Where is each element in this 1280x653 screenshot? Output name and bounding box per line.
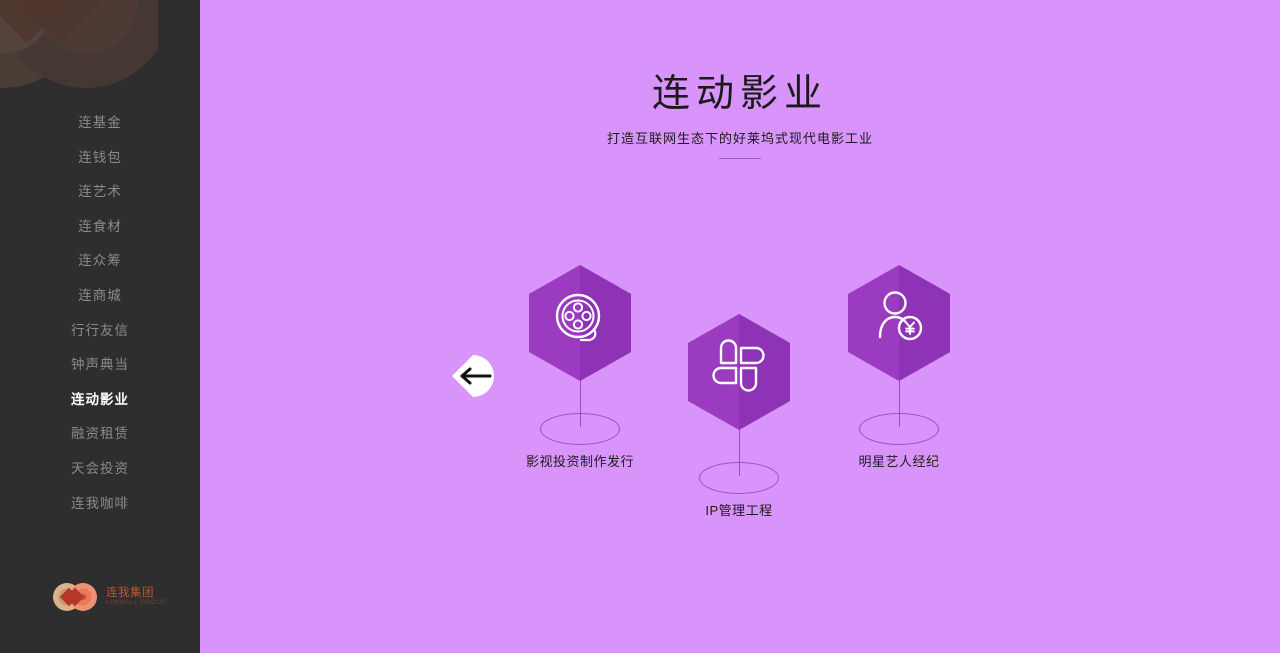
title-divider <box>719 158 761 159</box>
prev-arrow-button[interactable] <box>448 351 498 401</box>
node-label: 影视投资制作发行 <box>460 451 700 470</box>
node-base-ring <box>859 413 939 445</box>
sidebar-item-label: 连我咖啡 <box>71 496 129 511</box>
sidebar-item-label: 连商城 <box>78 288 122 303</box>
hexagon-badge[interactable]: IP管理工程 <box>688 314 790 430</box>
sidebar-item-6[interactable]: 行行友信 <box>0 314 200 349</box>
hexagon-badge[interactable]: 明星艺人经纪 <box>848 265 950 381</box>
sidebar-item-1[interactable]: 连钱包 <box>0 141 200 176</box>
sidebar-item-label: 行行友信 <box>71 323 129 338</box>
sidebar-nav[interactable]: 连基金 连钱包 连艺术 连食材 连众筹 连商城 行行友信 钟声典当 连动影业 融… <box>0 106 200 521</box>
sidebar-item-label: 天会投资 <box>71 461 129 476</box>
sidebar-item-label: 连基金 <box>78 115 122 130</box>
brand-text: 连我集团 LIWWALL GROUP <box>106 587 167 608</box>
hexagon-shape <box>529 265 631 381</box>
sidebar-item-label: 连食材 <box>78 219 122 234</box>
sidebar-item-9[interactable]: 融资租赁 <box>0 417 200 452</box>
sidebar-item-11[interactable]: 连我咖啡 <box>0 487 200 522</box>
liwwall-logo-icon <box>50 577 100 617</box>
sidebar-item-label: 钟声典当 <box>71 357 129 372</box>
sidebar-item-label: 连钱包 <box>78 150 122 165</box>
node-artist-agency[interactable]: 明星艺人经纪 <box>848 265 950 381</box>
sidebar-item-label: 连众筹 <box>78 253 122 268</box>
node-label: IP管理工程 <box>619 500 859 519</box>
brand-name-cn: 连我集团 <box>106 587 167 599</box>
page-subtitle: 打造互联网生态下的好莱坞式现代电影工业 <box>200 128 1280 147</box>
page-title: 连动影业 <box>200 62 1280 117</box>
sidebar-item-label: 连动影业 <box>71 392 129 407</box>
sidebar-item-2[interactable]: 连艺术 <box>0 175 200 210</box>
node-film-investment[interactable]: 影视投资制作发行 <box>529 265 631 381</box>
sidebar-item-10[interactable]: 天会投资 <box>0 452 200 487</box>
sidebar: 连基金 连钱包 连艺术 连食材 连众筹 连商城 行行友信 钟声典当 连动影业 融… <box>0 0 200 653</box>
node-base-ring <box>540 413 620 445</box>
sidebar-item-8-active[interactable]: 连动影业 <box>0 383 200 418</box>
hexagon-badge[interactable]: 影视投资制作发行 <box>529 265 631 381</box>
hexagon-shape <box>848 265 950 381</box>
sidebar-item-label: 连艺术 <box>78 184 122 199</box>
sidebar-item-7[interactable]: 钟声典当 <box>0 348 200 383</box>
brand-logo[interactable]: 连我集团 LIWWALL GROUP <box>50 577 167 617</box>
sidebar-item-4[interactable]: 连众筹 <box>0 244 200 279</box>
hexagon-shape <box>688 314 790 430</box>
node-base-ring <box>699 462 779 494</box>
node-ip-management[interactable]: IP管理工程 <box>688 314 790 430</box>
sidebar-item-3[interactable]: 连食材 <box>0 210 200 245</box>
main-stage: 连动影业 打造互联网生态下的好莱坞式现代电影工业 影视投资制作发行 <box>200 0 1280 653</box>
sidebar-item-5[interactable]: 连商城 <box>0 279 200 314</box>
brand-name-en: LIWWALL GROUP <box>106 599 167 608</box>
node-label: 明星艺人经纪 <box>779 451 1019 470</box>
sidebar-item-0[interactable]: 连基金 <box>0 106 200 141</box>
sidebar-item-label: 融资租赁 <box>71 426 129 441</box>
